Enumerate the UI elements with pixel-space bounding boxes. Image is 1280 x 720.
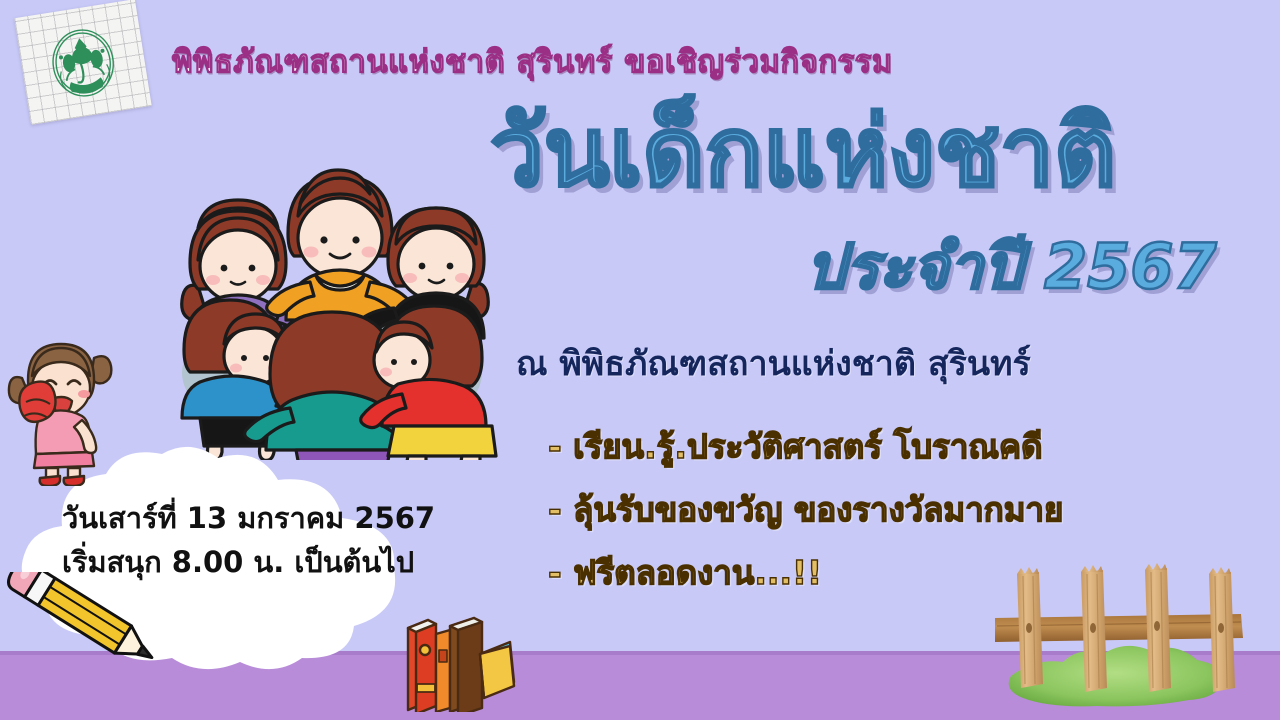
fine-arts-department-seal-icon xyxy=(41,19,126,108)
books-svg xyxy=(398,602,518,712)
pencil-svg xyxy=(0,572,176,682)
organization-header: พิพิธภัณฑสถานแห่งชาติ สุรินทร์ ขอเชิญร่ว… xyxy=(172,36,893,86)
list-item: - ลุ้นรับของขวัญ ของรางวัลมากมาย xyxy=(548,493,1248,526)
girl-svg xyxy=(6,336,128,486)
pencil-illustration xyxy=(0,572,176,682)
activity-list: - เรียน.รู้.ประวัติศาสตร์ โบราณคดี - ลุ้… xyxy=(548,430,1248,619)
list-item: - ฟรีตลอดงาน...!! xyxy=(548,556,1248,589)
girl-with-backpack-illustration xyxy=(6,336,128,486)
museum-logo xyxy=(14,0,151,125)
venue-line: ณ พิพิธภัณฑสถานแห่งชาติ สุรินทร์ xyxy=(516,336,1031,390)
children-circle-illustration: .ol { stroke:#1b1b1b; stroke-width:3.2; … xyxy=(150,168,514,460)
page-subtitle-year: ประจำปี 2567 xyxy=(806,236,1217,298)
list-item: - เรียน.รู้.ประวัติศาสตร์ โบราณคดี xyxy=(548,430,1248,463)
children-circle-svg: .ol { stroke:#1b1b1b; stroke-width:3.2; … xyxy=(150,168,514,460)
books-illustration xyxy=(398,602,518,712)
event-date: วันเสาร์ที่ 13 มกราคม 2567 xyxy=(62,500,392,536)
poster-canvas: .ol { stroke:#1b1b1b; stroke-width:3.2; … xyxy=(0,0,1280,720)
page-title: วันเด็กแห่งชาติ xyxy=(490,104,1116,200)
cloud-text-block: วันเสาร์ที่ 13 มกราคม 2567 เริ่มสนุก 8.0… xyxy=(62,500,392,581)
